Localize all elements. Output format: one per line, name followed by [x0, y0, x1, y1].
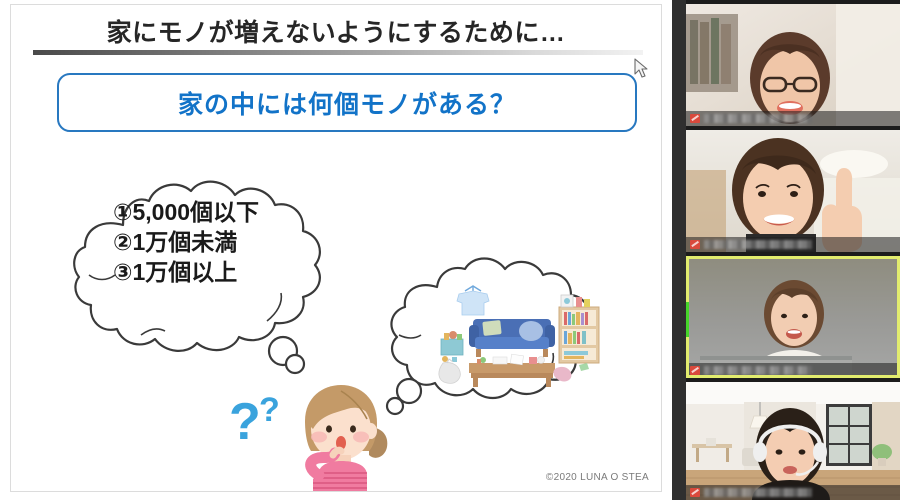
participant-1-video [686, 4, 900, 126]
video-tile-participant-3[interactable] [686, 256, 900, 378]
coffee-table-icon [469, 354, 555, 387]
question-callout-box: 家の中には何個モノがある？ [57, 73, 637, 132]
participant-3-video [686, 256, 900, 378]
participant-2-name-blurred [704, 240, 812, 249]
option-item: ③1万個以上 [113, 257, 259, 287]
question-text: 家の中には何個モノがある？ [178, 85, 516, 121]
answer-options-list: ①5,000個以下 ②1万個未満 ③1万個以上 [113, 197, 259, 287]
microphone-muted-icon [690, 240, 700, 249]
laundry-bag-icon [439, 359, 460, 383]
copyright-text: ©2020 LUNA O STEA [546, 472, 649, 483]
mouse-pointer-icon [634, 58, 650, 80]
svg-text:?: ? [229, 393, 261, 451]
microphone-muted-icon [690, 366, 700, 375]
participant-4-video [686, 382, 900, 500]
participant-2-name-bar [686, 237, 900, 252]
hanging-shirt-icon [457, 286, 489, 315]
screen-share-meeting-window: 家にモノが増えないようにするために… 家の中には何個モノがある？ ①5,000個… [0, 0, 900, 500]
participant-3-name-blurred [704, 366, 812, 375]
video-tile-participant-4[interactable] [686, 382, 900, 500]
participant-4-name-blurred [704, 488, 812, 497]
panel-divider [672, 0, 686, 500]
toy-box-icon [441, 331, 463, 362]
slide-frame: 家にモノが増えないようにするために… 家の中には何個モノがある？ ①5,000個… [10, 4, 662, 492]
participant-2-video [686, 130, 900, 252]
svg-text:?: ? [259, 391, 280, 429]
participant-3-name-bar [686, 363, 900, 378]
cluttered-room-illustration [435, 281, 605, 391]
speaking-indicator [686, 302, 689, 336]
shared-slide-area: 家にモノが増えないようにするために… 家の中には何個モノがある？ ①5,000個… [0, 0, 672, 500]
participant-1-name-blurred [704, 114, 812, 123]
bookshelf-icon [559, 295, 599, 363]
video-tile-participant-1[interactable] [686, 4, 900, 126]
participant-video-panel [686, 0, 900, 500]
video-tile-participant-2[interactable] [686, 130, 900, 252]
slide-title: 家にモノが増えないようにするために… [11, 13, 661, 49]
microphone-muted-icon [690, 114, 700, 123]
participant-4-name-bar [686, 485, 900, 500]
option-item: ①5,000個以下 [113, 197, 259, 227]
sofa-icon [469, 319, 555, 357]
title-divider-rule [33, 50, 643, 55]
microphone-muted-icon [690, 488, 700, 497]
floor-clutter-icon [553, 363, 589, 382]
option-item: ②1万個未満 [113, 227, 259, 257]
participant-1-name-bar [686, 111, 900, 126]
thinking-woman-illustration [283, 381, 403, 492]
